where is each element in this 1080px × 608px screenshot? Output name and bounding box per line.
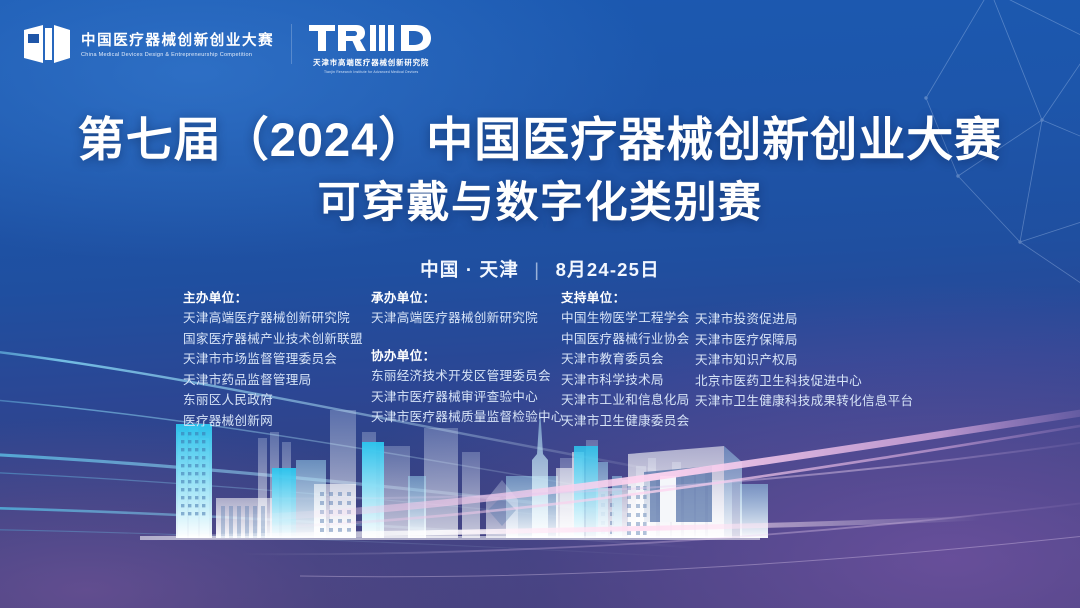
list-item: 天津市医疗器械质量监督检验中心	[371, 407, 561, 428]
list-item: 国家医疗器械产业技术创新联盟	[183, 329, 371, 350]
competition-logo[interactable]: 中国医疗器械创新创业大赛 China Medical Devices Desig…	[22, 22, 274, 66]
list-item: 天津市投资促进局	[695, 309, 905, 330]
list-item: 中国医疗器械行业协会	[561, 329, 695, 350]
supporters-column: 支持单位： 中国生物医学工程学会 中国医疗器械行业协会 天津市教育委员会 天津市…	[561, 288, 905, 431]
institute-name-cn: 天津市高端医疗器械创新研究院	[309, 57, 433, 68]
organizer-header: 承办单位：	[371, 288, 561, 308]
co-organizer-header: 协办单位：	[371, 346, 561, 366]
list-item: 东丽经济技术开发区管理委员会	[371, 366, 561, 387]
supporters-header: 支持单位：	[561, 288, 695, 308]
host-column: 主办单位： 天津高端医疗器械创新研究院 国家医疗器械产业技术创新联盟 天津市市场…	[183, 288, 371, 431]
page-title: 第七届（2024）中国医疗器械创新创业大赛	[0, 112, 1080, 167]
list-item: 天津市科学技术局	[561, 370, 695, 391]
list-item: 天津高端医疗器械创新研究院	[183, 308, 371, 329]
supporters-sub-column-b: 天津市投资促进局 天津市医疗保障局 天津市知识产权局 北京市医药卫生科技促进中心…	[695, 288, 905, 431]
list-item: 天津市卫生健康委员会	[561, 411, 695, 432]
list-item: 东丽区人民政府	[183, 390, 371, 411]
column-spacer	[371, 329, 561, 346]
list-item: 天津市医疗器械审评查验中心	[371, 387, 561, 408]
event-location: 中国 · 天津	[420, 259, 519, 280]
list-item: 天津高端医疗器械创新研究院	[371, 308, 561, 329]
list-item: 天津市市场监督管理委员会	[183, 349, 371, 370]
supporters-sub-column-a: 支持单位： 中国生物医学工程学会 中国医疗器械行业协会 天津市教育委员会 天津市…	[561, 288, 695, 431]
list-item: 医疗器械创新网	[183, 411, 371, 432]
open-book-door-logo-icon	[22, 22, 72, 66]
logo-bar: 中国医疗器械创新创业大赛 China Medical Devices Desig…	[22, 22, 433, 74]
event-meta: 中国 · 天津 | 8月24-25日	[0, 256, 1080, 282]
list-item: 天津市药品监督管理局	[183, 370, 371, 391]
host-header: 主办单位：	[183, 288, 371, 308]
list-item: 天津市卫生健康科技成果转化信息平台	[695, 391, 905, 412]
list-item: 天津市知识产权局	[695, 350, 905, 371]
organizations-block: 主办单位： 天津高端医疗器械创新研究院 国家医疗器械产业技术创新联盟 天津市市场…	[0, 288, 1080, 431]
logo-divider	[291, 24, 292, 64]
organizer-column: 承办单位： 天津高端医疗器械创新研究院 协办单位： 东丽经济技术开发区管理委员会…	[371, 288, 561, 431]
event-poster: 中国医疗器械创新创业大赛 China Medical Devices Desig…	[0, 0, 1080, 608]
list-item: 天津市医疗保障局	[695, 330, 905, 351]
competition-name-en: China Medical Devices Design & Entrepren…	[81, 52, 278, 58]
institute-logo[interactable]: 天津市高端医疗器械创新研究院 Tianjin Research Institut…	[309, 22, 433, 74]
title-block: 第七届（2024）中国医疗器械创新创业大赛 可穿戴与数字化类别赛 中国 · 天津…	[0, 112, 1080, 282]
institute-name-en: Tianjin Research Institute for Advanced …	[309, 70, 433, 74]
trimd-wordmark-icon	[309, 23, 433, 53]
competition-name-cn: 中国医疗器械创新创业大赛	[81, 33, 274, 50]
list-item: 天津市教育委员会	[561, 349, 695, 370]
list-item: 天津市工业和信息化局	[561, 390, 695, 411]
column-spacer	[695, 288, 905, 309]
list-item: 中国生物医学工程学会	[561, 308, 695, 329]
page-subtitle: 可穿戴与数字化类别赛	[0, 178, 1080, 230]
meta-separator: |	[534, 259, 540, 281]
event-date: 8月24-25日	[556, 259, 660, 280]
list-item: 北京市医药卫生科技促进中心	[695, 371, 905, 392]
